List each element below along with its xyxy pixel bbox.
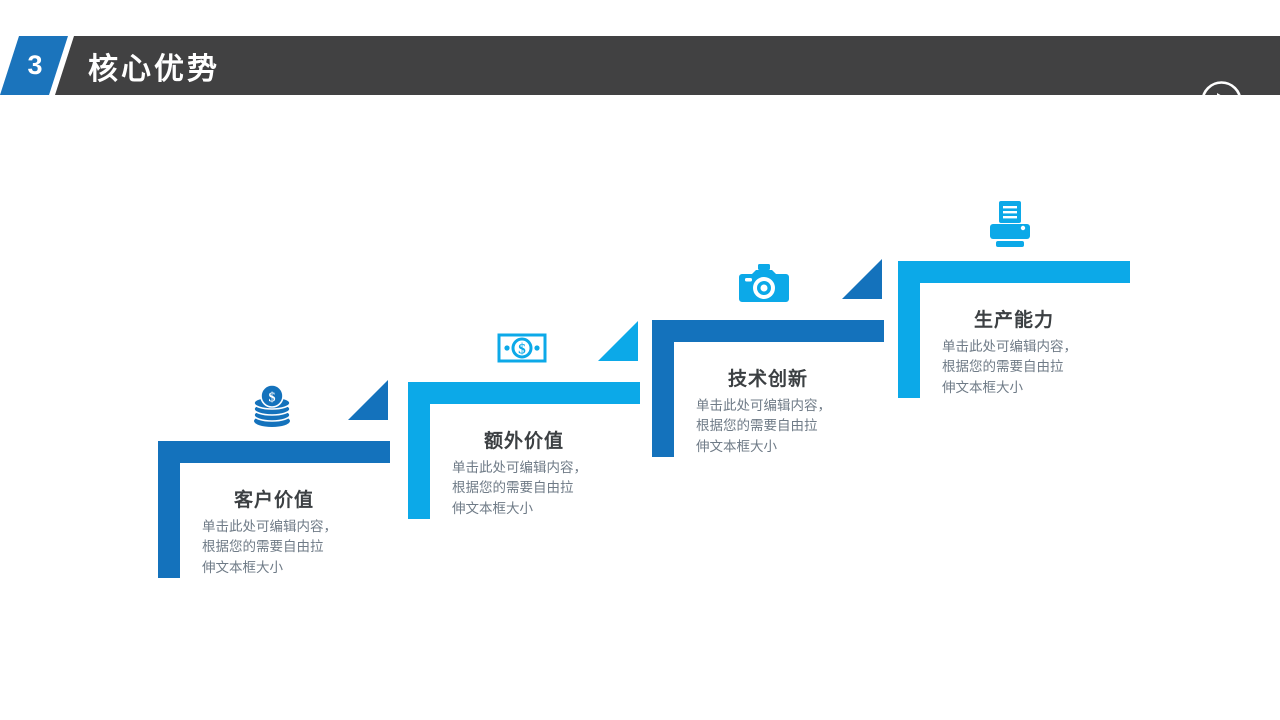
step-title: 生产能力 [898,305,1130,332]
header-bar [55,36,1280,95]
printer-icon [982,197,1038,253]
step-title: 额外价值 [408,426,640,453]
bracket-top-bar [158,441,390,463]
play-circle-icon[interactable] [1200,80,1243,123]
bracket-top-bar [652,320,884,342]
bracket-top-bar [408,382,640,404]
step-body-text: 单击此处可编辑内容， 根据您的需要自由拉 伸文本框大小 [696,396,856,457]
slide-header: 3 核心优势 [0,36,1280,95]
step-title: 技术创新 [652,364,884,391]
step-triangle [348,380,388,420]
section-number: 3 [0,36,68,95]
svg-text:$: $ [269,391,276,406]
page-title: 核心优势 [88,36,220,95]
step-title: 客户价值 [158,485,390,512]
coin-stack-icon: $ [244,377,300,433]
svg-text:$: $ [518,342,526,358]
section-number-badge: 3 [0,36,68,95]
step-body-text: 单击此处可编辑内容， 根据您的需要自由拉 伸文本框大小 [942,337,1102,398]
step-body-text: 单击此处可编辑内容， 根据您的需要自由拉 伸文本框大小 [452,458,612,519]
banknote-dollar-icon: $ [494,318,550,374]
step-body-text: 单击此处可编辑内容， 根据您的需要自由拉 伸文本框大小 [202,517,362,578]
step-triangle [598,321,638,361]
camera-icon [736,256,792,312]
step-triangle [842,259,882,299]
bracket-top-bar [898,261,1130,283]
